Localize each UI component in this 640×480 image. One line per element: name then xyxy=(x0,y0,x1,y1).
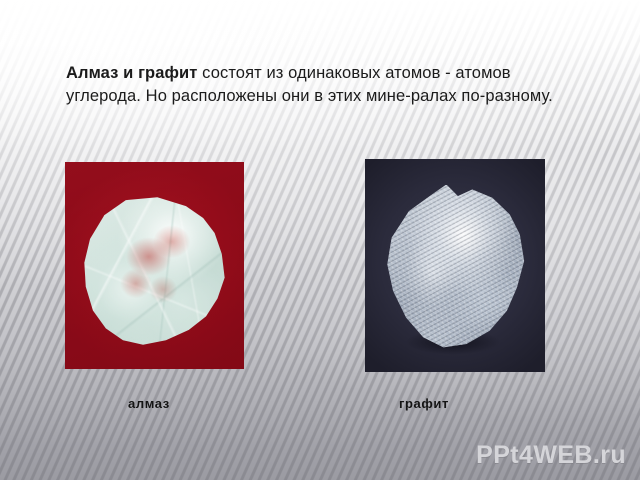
caption-diamond: алмаз xyxy=(128,396,170,411)
caption-graphite: графит xyxy=(399,396,449,411)
slide: Алмаз и графит состоят из одинаковых ато… xyxy=(0,0,640,480)
slide-body-text: Алмаз и графит состоят из одинаковых ато… xyxy=(66,62,576,108)
figure-graphite xyxy=(365,159,545,372)
figure-graphite-image xyxy=(365,159,545,372)
watermark: PPt4WEB.ru xyxy=(476,441,626,470)
slide-body-text-lead: Алмаз и графит xyxy=(66,64,197,82)
figure-diamond xyxy=(65,162,244,369)
figure-diamond-image xyxy=(65,162,244,369)
